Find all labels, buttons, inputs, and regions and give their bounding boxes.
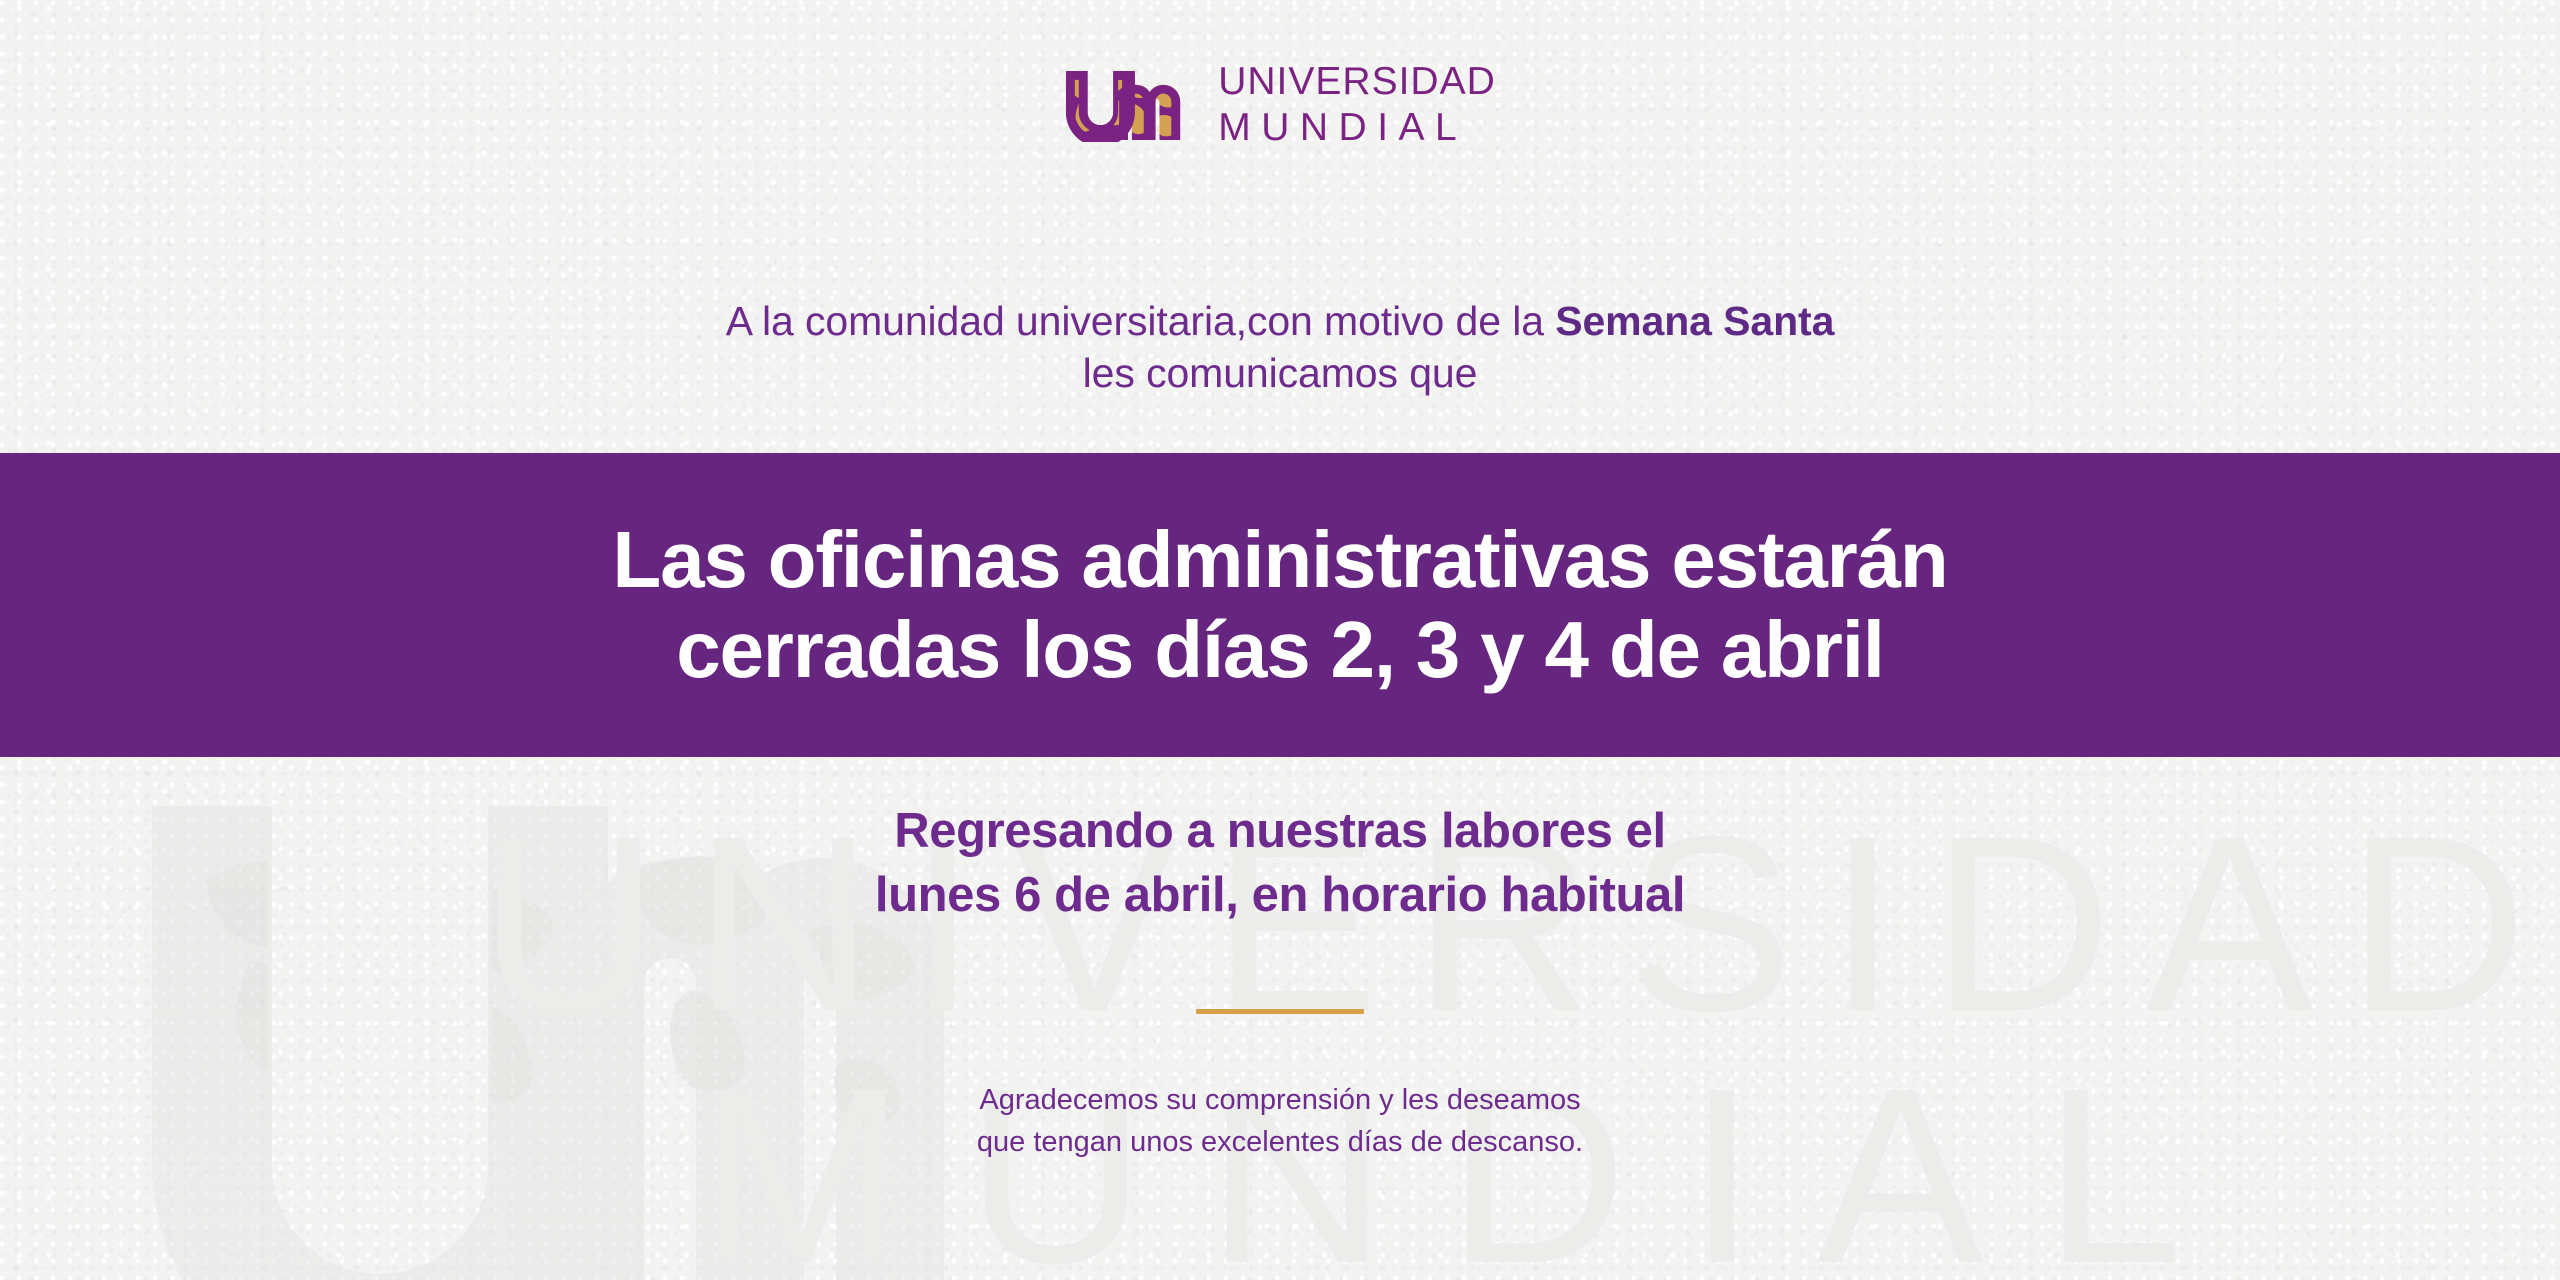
banner-line-2: cerradas los días 2, 3 y 4 de abril [676,605,1884,695]
return-note: Regresando a nuestras labores el lunes 6… [0,800,2560,927]
logo-line-mundial: MUNDIAL [1218,108,1496,147]
intro-message: A la comunidad universitaria,con motivo … [0,295,2560,399]
closing-note-line-2: que tengan unos excelentes días de desca… [0,1121,2560,1163]
intro-line-1: A la comunidad universitaria,con motivo … [0,295,2560,347]
gold-rule-divider [1196,1009,1364,1014]
return-note-line-2: lunes 6 de abril, en horario habitual [0,864,2560,928]
intro-line-2: les comunicamos que [0,347,2560,399]
intro-line-1-bold: Semana Santa [1555,298,1834,344]
closing-note-line-1: Agradecemos su comprensión y les deseamo… [0,1079,2560,1121]
logo-line-universidad: UNIVERSIDAD [1218,62,1496,101]
banner-line-1: Las oficinas administrativas estarán [612,515,1947,605]
announcement-banner: Las oficinas administrativas estarán cer… [0,453,2560,757]
closing-note: Agradecemos su comprensión y les deseamo… [0,1079,2560,1163]
um-monogram-globe-icon [1064,68,1192,142]
intro-line-1-prefix: A la comunidad universitaria,con motivo … [726,298,1556,344]
logo-wordmark: UNIVERSIDAD MUNDIAL [1218,62,1496,147]
return-note-line-1: Regresando a nuestras labores el [0,800,2560,864]
brand-logo: UNIVERSIDAD MUNDIAL [0,62,2560,147]
